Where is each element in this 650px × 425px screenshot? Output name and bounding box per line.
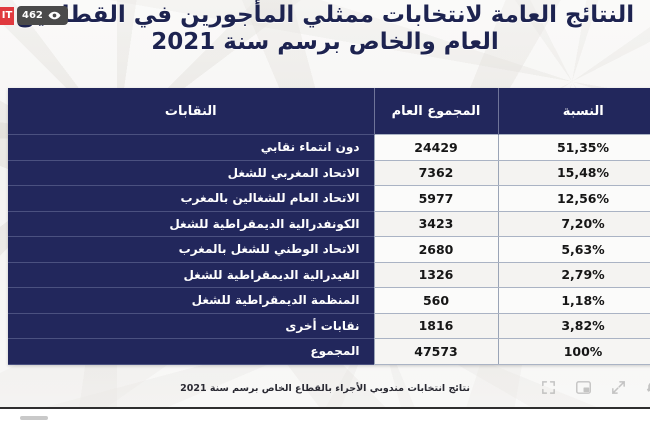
cell-total: 2680	[374, 237, 498, 263]
table-body: 51,35%24429دون انتماء نقابي15,48%7362الا…	[8, 135, 650, 365]
cell-total: 47573	[374, 339, 498, 365]
cell-total: 560	[374, 288, 498, 314]
cell-union-name: الاتحاد المغربي للشغل	[8, 160, 374, 186]
cell-percentage: 15,48%	[498, 160, 650, 186]
cell-union-name: الاتحاد العام للشغالين بالمغرب	[8, 186, 374, 212]
table-row: 1,18%560المنظمة الديمقراطية للشغل	[8, 288, 650, 314]
view-count-text: 462	[22, 10, 43, 21]
expand-arrows-icon[interactable]	[610, 379, 627, 396]
table-row: 7,20%3423الكونفدرالية الديمقراطية للشغل	[8, 211, 650, 237]
table-header: النسبة المجموع العام النقابات	[8, 88, 650, 135]
cell-percentage: 5,63%	[498, 237, 650, 263]
column-header-union: النقابات	[8, 88, 374, 135]
cell-percentage: 51,35%	[498, 135, 650, 161]
cell-union-name: المجموع	[8, 339, 374, 365]
cell-percentage: 2,79%	[498, 262, 650, 288]
table-row: 3,82%1816نقابات أخرى	[8, 313, 650, 339]
cell-union-name: المنظمة الديمقراطية للشغل	[8, 288, 374, 314]
table-row: 5,63%2680الاتحاد الوطني للشغل بالمغرب	[8, 237, 650, 263]
content-placeholder-bar	[20, 416, 48, 420]
cell-union-name: دون انتماء نقابي	[8, 135, 374, 161]
column-header-percentage: النسبة	[498, 88, 650, 135]
cell-union-name: نقابات أخرى	[8, 313, 374, 339]
table-row: 15,48%7362الاتحاد المغربي للشغل	[8, 160, 650, 186]
cell-percentage: 12,56%	[498, 186, 650, 212]
column-header-total: المجموع العام	[374, 88, 498, 135]
cell-percentage: 100%	[498, 339, 650, 365]
corner-channel-tag: IT	[0, 7, 14, 25]
video-slide-stage[interactable]: IT 462 النتائج العامة لانتخابات ممثلي ال…	[0, 0, 650, 408]
slide-title: النتائج العامة لانتخابات ممثلي المأجورين…	[0, 2, 650, 56]
slide-title-line-2: العام والخاص برسم سنة 2021	[6, 29, 644, 56]
slide-title-line-1: النتائج العامة لانتخابات ممثلي المأجورين…	[6, 2, 644, 29]
table-row: 12,56%5977الاتحاد العام للشغالين بالمغرب	[8, 186, 650, 212]
cell-percentage: 3,82%	[498, 313, 650, 339]
table-row: 100%47573المجموع	[8, 339, 650, 365]
view-counter-badge: 462	[17, 6, 68, 25]
cell-union-name: الاتحاد الوطني للشغل بالمغرب	[8, 237, 374, 263]
cell-total: 1326	[374, 262, 498, 288]
election-results-table: النسبة المجموع العام النقابات 51,35%2442…	[8, 88, 650, 365]
cell-total: 24429	[374, 135, 498, 161]
cell-percentage: 1,18%	[498, 288, 650, 314]
cell-total: 1816	[374, 313, 498, 339]
cell-total: 5977	[374, 186, 498, 212]
table-row: 2,79%1326الفيدرالية الديمقراطية للشغل	[8, 262, 650, 288]
table-row: 51,35%24429دون انتماء نقابي	[8, 135, 650, 161]
cell-total: 7362	[374, 160, 498, 186]
screenshot-root: IT 462 النتائج العامة لانتخابات ممثلي ال…	[0, 0, 650, 425]
picture-in-picture-icon[interactable]	[575, 379, 592, 396]
fullscreen-icon[interactable]	[540, 379, 557, 396]
table-header-row: النسبة المجموع العام النقابات	[8, 88, 650, 135]
cell-union-name: الكونفدرالية الديمقراطية للشغل	[8, 211, 374, 237]
cell-percentage: 7,20%	[498, 211, 650, 237]
page-body-below-video	[0, 409, 650, 425]
eye-icon	[48, 9, 61, 22]
cell-total: 3423	[374, 211, 498, 237]
cell-union-name: الفيدرالية الديمقراطية للشغل	[8, 262, 374, 288]
gear-icon[interactable]	[645, 379, 650, 396]
player-controls	[540, 379, 650, 396]
